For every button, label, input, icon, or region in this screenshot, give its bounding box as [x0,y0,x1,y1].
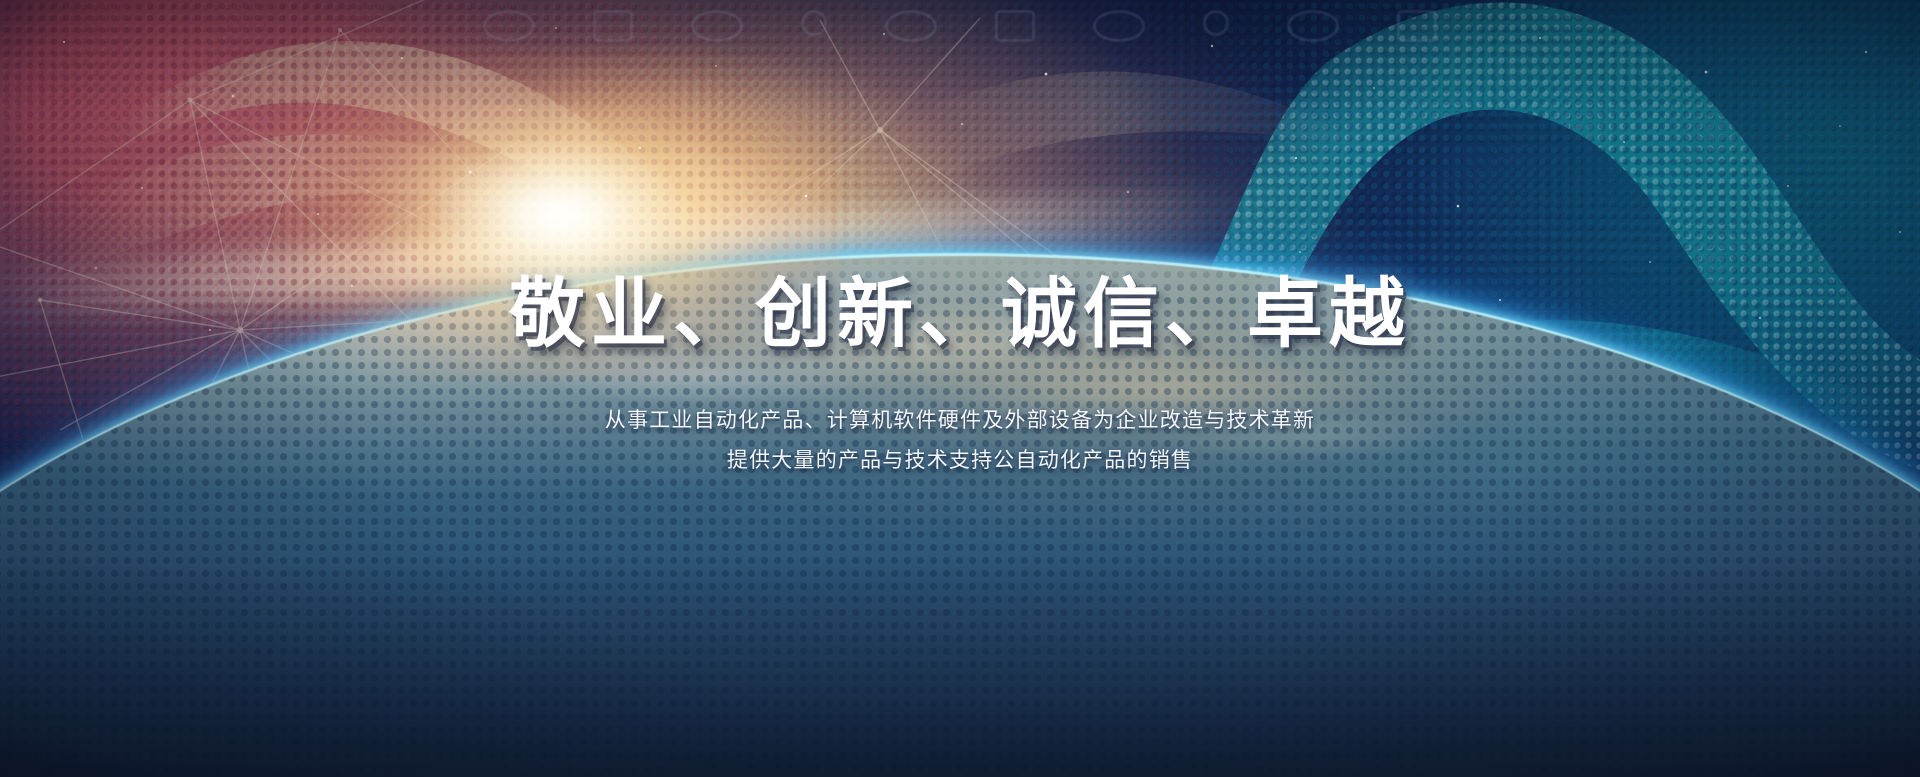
hero-banner: 敬业、创新、诚信、卓越 从事工业自动化产品、计算机软件硬件及外部设备为企业改造与… [0,0,1920,777]
vignette-overlay [0,0,1920,777]
